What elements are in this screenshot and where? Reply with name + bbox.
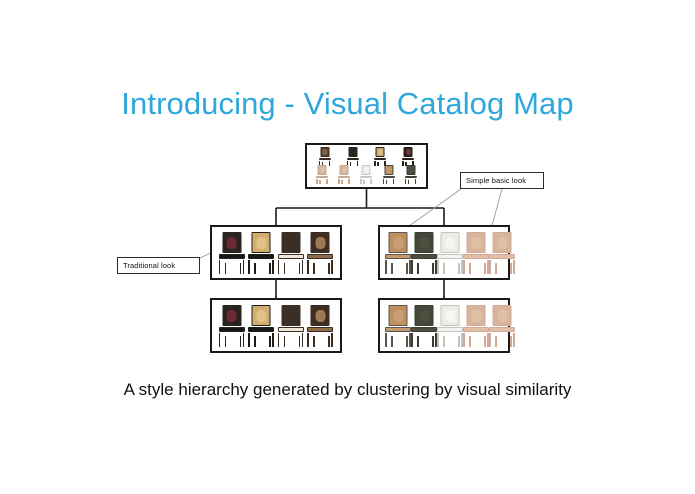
chair-leg xyxy=(383,179,385,184)
chair-back xyxy=(281,305,300,326)
chair-leg xyxy=(243,333,245,347)
chair-leg xyxy=(360,179,362,184)
chair-leg xyxy=(284,336,286,347)
chair-thumbnail xyxy=(278,305,304,347)
chair-back-panel xyxy=(471,237,481,249)
chair-leg xyxy=(377,162,379,166)
chair-leg xyxy=(484,263,486,274)
chair-back xyxy=(222,232,241,253)
chair-leg xyxy=(278,260,280,274)
chair-back-panel xyxy=(386,167,391,173)
chair-leg xyxy=(219,260,221,274)
chair-leg xyxy=(326,180,328,184)
chair-leg xyxy=(328,263,330,274)
chair-leg xyxy=(393,180,395,184)
chair-back xyxy=(318,165,327,175)
tree-node-traditional-leaf-cluster[interactable] xyxy=(210,298,342,353)
chair-seat xyxy=(437,254,463,259)
chair-thumbnail xyxy=(385,305,411,347)
chair-leg xyxy=(363,180,365,184)
chair-thumbnail xyxy=(278,232,304,274)
chair-back-panel xyxy=(320,167,325,173)
chair-leg xyxy=(357,162,359,166)
chair-leg xyxy=(299,263,301,274)
chair-leg xyxy=(386,180,388,184)
chair-thumbnail xyxy=(219,305,245,347)
chair-leg xyxy=(510,263,512,274)
tree-node-root-cluster[interactable] xyxy=(305,143,428,189)
chair-back xyxy=(222,305,241,326)
chair-leg xyxy=(469,336,471,347)
callout-simple-label: Simple basic look xyxy=(466,176,526,185)
chair-leg xyxy=(225,263,227,274)
chair-leg xyxy=(443,263,445,274)
chair-leg xyxy=(341,180,343,184)
chair-back xyxy=(441,232,460,253)
chair-leg xyxy=(307,260,309,274)
chair-seat xyxy=(360,176,372,178)
chair-back xyxy=(384,165,393,175)
chair-back xyxy=(389,305,408,326)
tree-connectors xyxy=(0,0,695,494)
callout-simple-basic-look[interactable]: Simple basic look xyxy=(460,172,544,189)
chair-leg xyxy=(272,260,274,274)
chair-seat xyxy=(374,158,386,160)
node-row-top xyxy=(311,148,422,166)
chair-back xyxy=(415,305,434,326)
chair-back-panel xyxy=(393,237,403,249)
chair-seat xyxy=(463,254,489,259)
chair-back-panel xyxy=(378,149,383,155)
chair-back xyxy=(406,165,415,175)
chair-thumbnail xyxy=(411,232,437,274)
chair-thumbnail xyxy=(383,165,395,184)
chair-seat xyxy=(402,158,414,160)
chair-leg xyxy=(225,336,227,347)
chair-back-panel xyxy=(256,237,266,249)
chair-seat xyxy=(278,254,304,259)
chair-back xyxy=(415,232,434,253)
chair-back-panel xyxy=(497,310,507,322)
chair-leg xyxy=(469,263,471,274)
chair-leg xyxy=(348,180,350,184)
chair-seat xyxy=(248,327,274,332)
chair-leg xyxy=(316,179,318,184)
chair-leg xyxy=(391,336,393,347)
chair-thumbnail xyxy=(463,305,489,347)
chair-thumbnail xyxy=(347,147,359,166)
chair-leg xyxy=(313,263,315,274)
chair-back-panel xyxy=(256,310,266,322)
chair-back xyxy=(467,232,486,253)
chair-leg xyxy=(338,179,340,184)
chair-leg xyxy=(331,260,333,274)
chair-back-panel xyxy=(342,167,347,173)
chair-leg xyxy=(284,263,286,274)
chair-leg xyxy=(513,333,515,347)
chair-back-panel xyxy=(408,167,413,173)
chair-thumbnail xyxy=(489,232,515,274)
chair-back-panel xyxy=(315,237,325,249)
chair-back-panel xyxy=(364,167,369,173)
chair-back xyxy=(348,147,357,157)
slide-caption: A style hierarchy generated by clusterin… xyxy=(0,380,695,400)
chair-leg xyxy=(437,260,439,274)
chair-back xyxy=(252,305,271,326)
chair-leg xyxy=(513,260,515,274)
chair-leg xyxy=(432,263,434,274)
chair-seat xyxy=(278,327,304,332)
chair-seat xyxy=(338,176,350,178)
chair-leg xyxy=(443,336,445,347)
tree-node-simple-basic-cluster[interactable] xyxy=(378,225,510,280)
chair-back xyxy=(362,165,371,175)
chair-leg xyxy=(417,263,419,274)
chair-leg xyxy=(240,263,242,274)
chair-leg xyxy=(302,260,304,274)
chair-thumbnail xyxy=(437,232,463,274)
chair-leg xyxy=(484,336,486,347)
chair-back-panel xyxy=(286,237,296,249)
visual-catalog-map-diagram: Traditional look Simple basic look xyxy=(0,0,695,494)
chair-leg xyxy=(408,180,410,184)
chair-seat xyxy=(463,327,489,332)
slide-canvas: Introducing - Visual Catalog Map xyxy=(0,0,695,494)
chair-back-panel xyxy=(471,310,481,322)
chair-back-panel xyxy=(315,310,325,322)
chair-thumbnail xyxy=(360,165,372,184)
chair-thumbnail xyxy=(374,147,386,166)
chair-leg xyxy=(319,180,321,184)
chair-thumbnail xyxy=(319,147,331,166)
chair-thumbnail xyxy=(402,147,414,166)
chair-back xyxy=(467,305,486,326)
chair-leg xyxy=(240,336,242,347)
chair-leg xyxy=(313,336,315,347)
chair-thumbnail xyxy=(307,305,333,347)
chair-back xyxy=(311,305,330,326)
chair-back xyxy=(493,232,512,253)
chair-leg xyxy=(272,333,274,347)
chair-back-panel xyxy=(322,149,327,155)
chair-leg xyxy=(432,336,434,347)
chair-back xyxy=(376,147,385,157)
chair-back xyxy=(320,147,329,157)
chair-seat xyxy=(411,327,437,332)
chair-leg xyxy=(219,333,221,347)
chair-back-panel xyxy=(445,310,455,322)
chair-back-panel xyxy=(227,237,237,249)
chair-back-panel xyxy=(286,310,296,322)
chair-leg xyxy=(248,333,250,347)
chair-seat xyxy=(307,254,333,259)
chair-leg xyxy=(302,333,304,347)
callout-traditional-label: Traditional look xyxy=(123,261,175,270)
chair-thumbnail xyxy=(316,165,328,184)
chair-leg xyxy=(458,263,460,274)
chair-thumbnail xyxy=(463,232,489,274)
chair-seat xyxy=(489,327,515,332)
chair-thumbnail xyxy=(219,232,245,274)
chair-leg xyxy=(437,333,439,347)
chair-leg xyxy=(278,333,280,347)
chair-back xyxy=(311,232,330,253)
chair-back xyxy=(252,232,271,253)
chair-leg xyxy=(254,336,256,347)
chair-thumbnail xyxy=(405,165,417,184)
chair-leg xyxy=(370,180,372,184)
chair-leg xyxy=(243,260,245,274)
chair-leg xyxy=(331,333,333,347)
chair-leg xyxy=(385,260,387,274)
chair-seat xyxy=(307,327,333,332)
chair-back xyxy=(389,232,408,253)
chair-seat xyxy=(411,254,437,259)
chair-thumbnail xyxy=(338,165,350,184)
chair-back xyxy=(340,165,349,175)
chair-leg xyxy=(299,336,301,347)
chair-back xyxy=(404,147,413,157)
chair-seat xyxy=(347,158,359,160)
tree-node-simple-basic-leaf-cluster[interactable] xyxy=(378,298,510,353)
chair-leg xyxy=(463,260,465,274)
chair-seat xyxy=(405,176,417,178)
chair-back-panel xyxy=(406,149,411,155)
chair-seat xyxy=(489,254,515,259)
chair-back xyxy=(441,305,460,326)
chair-seat xyxy=(319,158,331,160)
chair-leg xyxy=(495,263,497,274)
chair-seat xyxy=(383,176,395,178)
chair-leg xyxy=(463,333,465,347)
chair-leg xyxy=(307,333,309,347)
chair-leg xyxy=(417,336,419,347)
chair-leg xyxy=(374,161,376,166)
chair-leg xyxy=(510,336,512,347)
chair-seat xyxy=(385,254,411,259)
chair-back-panel xyxy=(393,310,403,322)
chair-back-panel xyxy=(227,310,237,322)
chair-leg xyxy=(402,161,404,166)
chair-back-panel xyxy=(497,237,507,249)
chair-leg xyxy=(415,180,417,184)
chair-leg xyxy=(489,260,491,274)
chair-thumbnail xyxy=(437,305,463,347)
chair-thumbnail xyxy=(385,232,411,274)
chair-thumbnail xyxy=(248,232,274,274)
chair-leg xyxy=(406,263,408,274)
chair-leg xyxy=(405,179,407,184)
node-row-bottom xyxy=(311,166,422,184)
chair-leg xyxy=(411,260,413,274)
chair-seat xyxy=(248,254,274,259)
tree-node-traditional-cluster[interactable] xyxy=(210,225,342,280)
chair-back xyxy=(493,305,512,326)
chair-thumbnail xyxy=(248,305,274,347)
chair-thumbnail xyxy=(489,305,515,347)
chair-leg xyxy=(269,336,271,347)
chair-back-panel xyxy=(445,237,455,249)
chair-leg xyxy=(254,263,256,274)
chair-seat xyxy=(385,327,411,332)
chair-back xyxy=(281,232,300,253)
chair-leg xyxy=(328,336,330,347)
chair-seat xyxy=(219,327,245,332)
chair-leg xyxy=(385,333,387,347)
chair-thumbnail xyxy=(307,232,333,274)
chair-thumbnail xyxy=(411,305,437,347)
chair-back-panel xyxy=(419,237,429,249)
chair-seat xyxy=(437,327,463,332)
chair-leg xyxy=(269,263,271,274)
chair-back-panel xyxy=(419,310,429,322)
chair-leg xyxy=(329,162,331,166)
chair-leg xyxy=(458,336,460,347)
chair-seat xyxy=(219,254,245,259)
chair-leg xyxy=(489,333,491,347)
chair-leg xyxy=(495,336,497,347)
callout-traditional-look[interactable]: Traditional look xyxy=(117,257,200,274)
chair-back-panel xyxy=(350,149,355,155)
chair-seat xyxy=(316,176,328,178)
chair-leg xyxy=(391,263,393,274)
chair-leg xyxy=(406,336,408,347)
chair-leg xyxy=(411,333,413,347)
chair-leg xyxy=(248,260,250,274)
